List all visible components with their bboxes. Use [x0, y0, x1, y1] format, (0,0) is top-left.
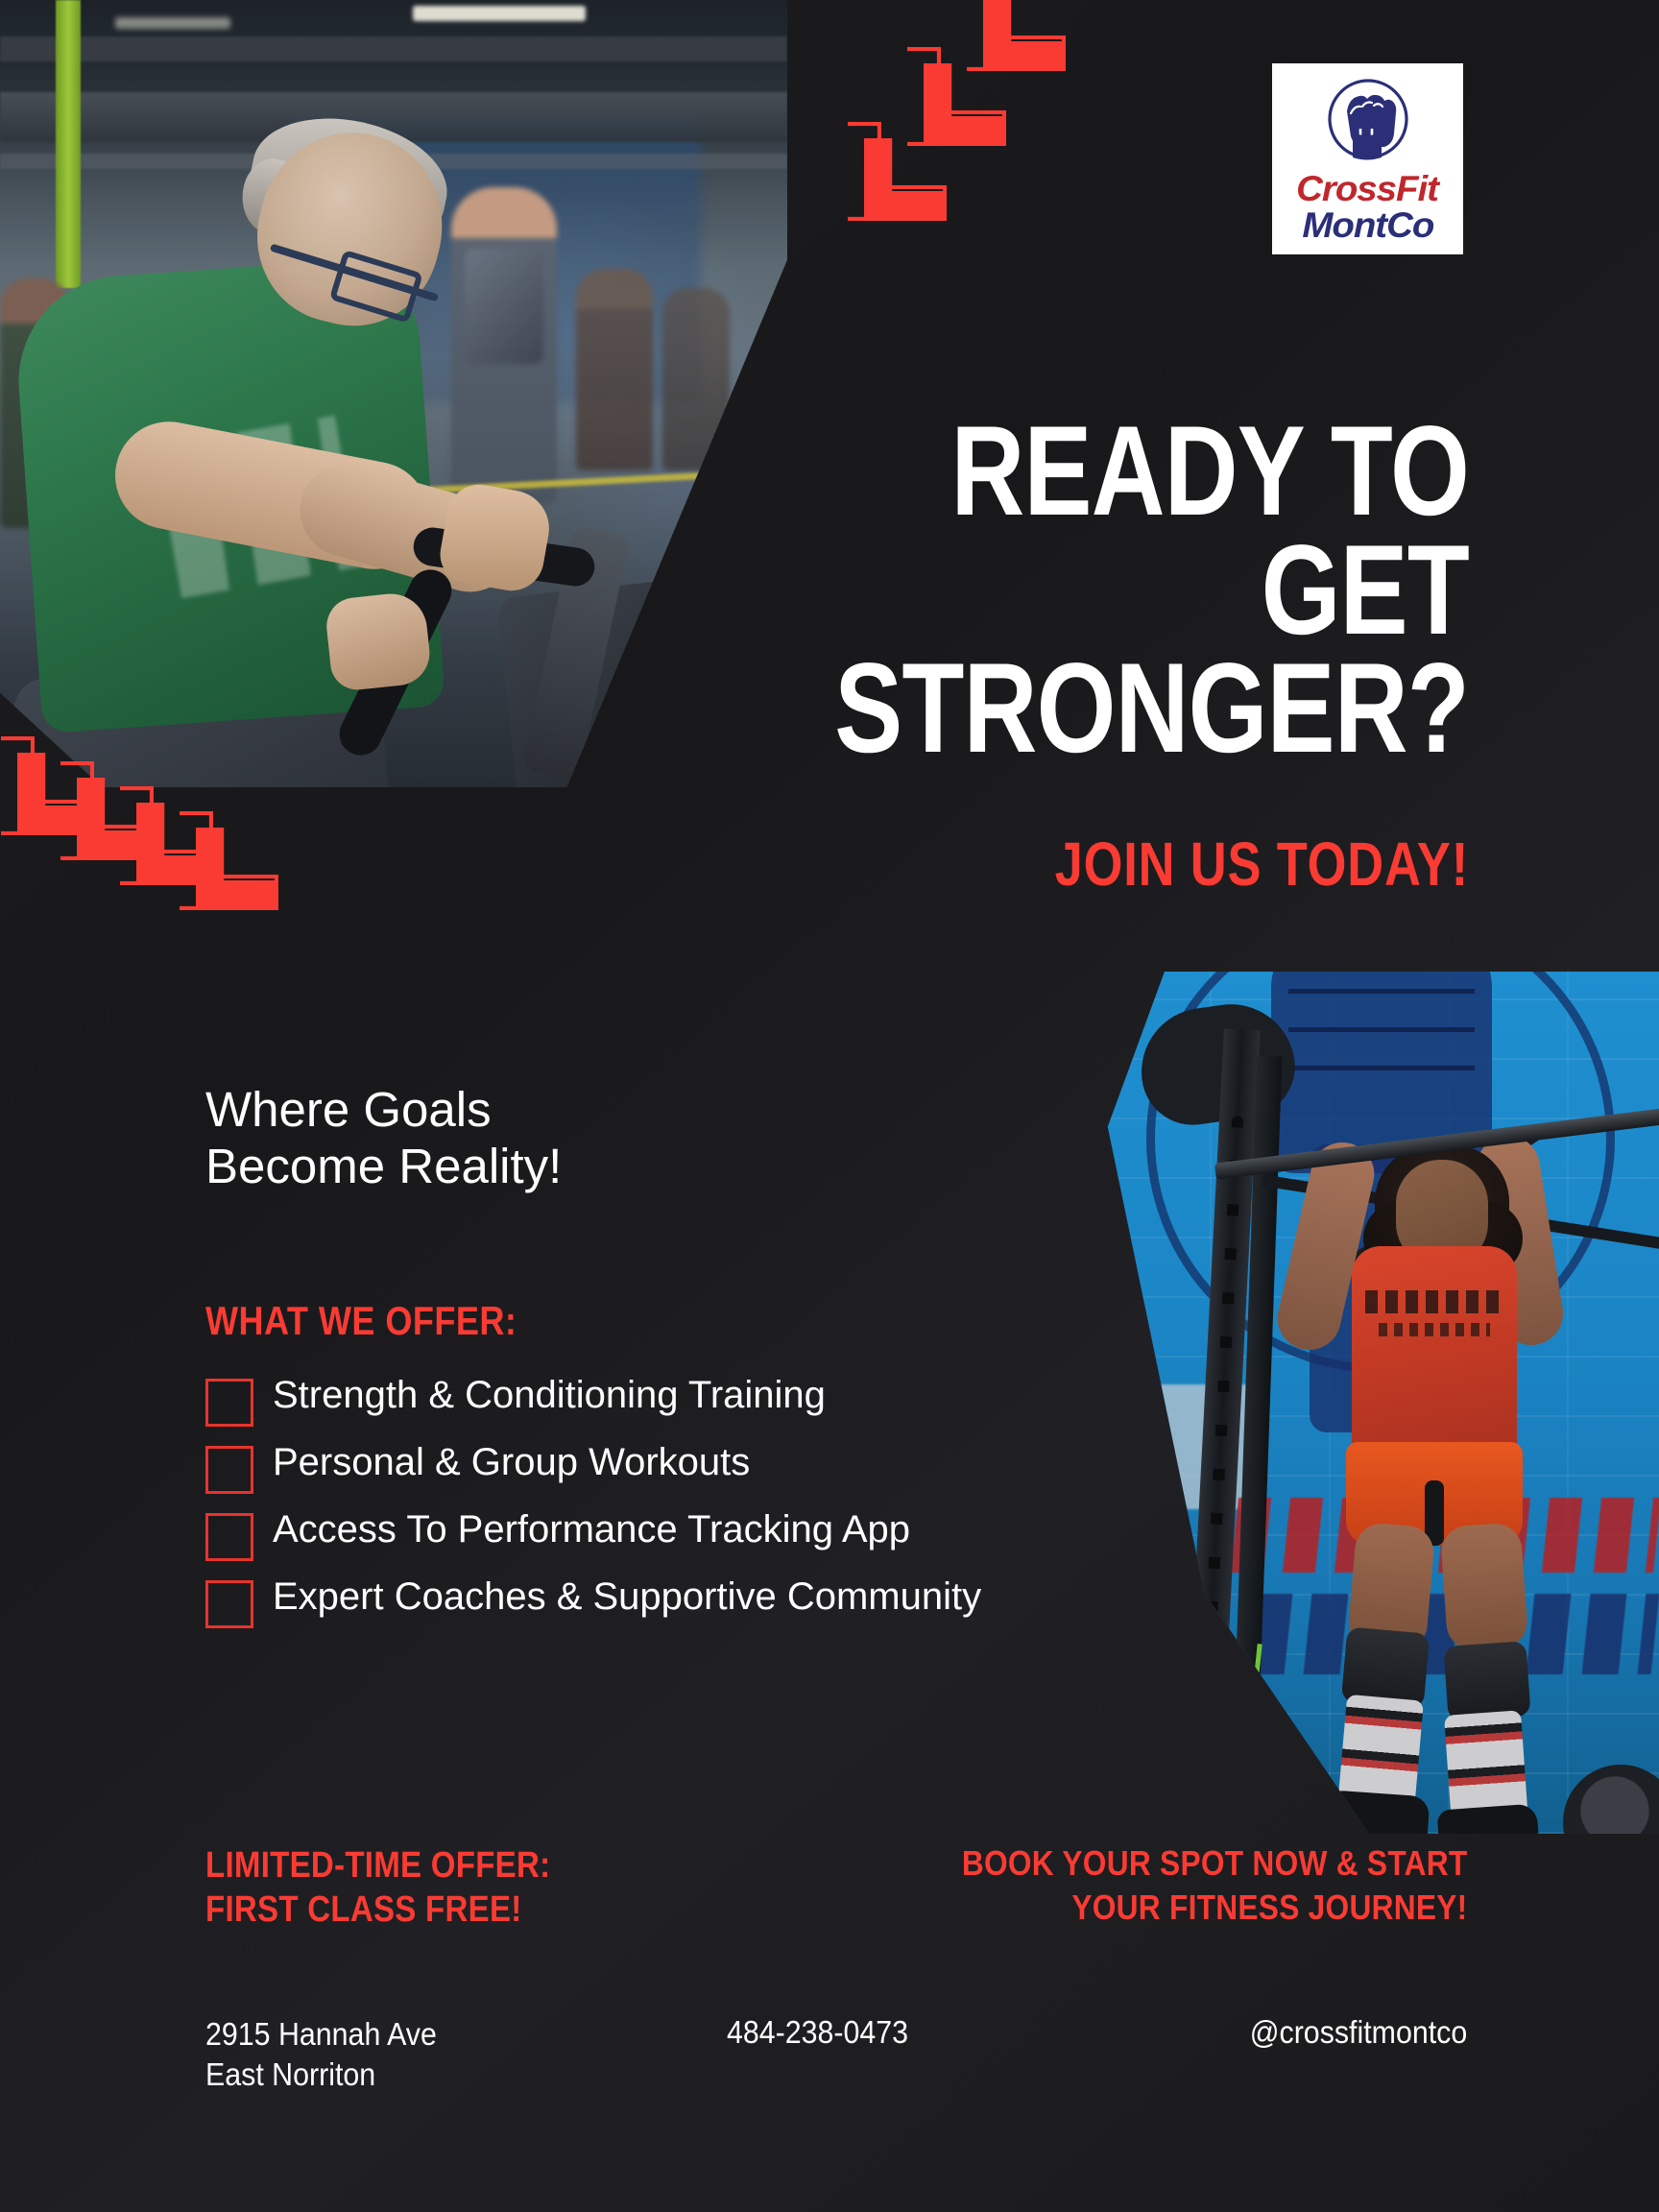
lifter-right-thigh	[1440, 1522, 1529, 1652]
tagline: Where Goals Become Reality!	[205, 1081, 878, 1194]
chevron-shape	[864, 138, 947, 221]
offer-item[interactable]: Strength & Conditioning Training	[205, 1375, 1070, 1427]
logo-wordmark-montco: MontCo	[1302, 207, 1433, 243]
ceiling-beam	[0, 36, 787, 61]
offer-item-label: Expert Coaches & Supportive Community	[273, 1576, 981, 1618]
background-person	[662, 288, 730, 470]
offer-section-heading: WHAT WE OFFER:	[205, 1298, 517, 1344]
chevron-solid	[196, 828, 278, 910]
knee-sleeve-right	[1443, 1641, 1530, 1721]
checkbox-icon[interactable]	[205, 1580, 253, 1628]
footer-phone[interactable]: 484-238-0473	[727, 2014, 908, 2051]
lifter-shoe-left	[1327, 1790, 1430, 1834]
checkbox-icon[interactable]	[205, 1513, 253, 1561]
chevron-shape	[924, 63, 1006, 146]
offer-item[interactable]: Expert Coaches & Supportive Community	[205, 1576, 1070, 1628]
checkbox-icon[interactable]	[205, 1379, 253, 1427]
photo-topleft-scene	[0, 0, 787, 787]
fist-icon	[1318, 75, 1418, 171]
crossfit-montco-logo: CrossFit MontCo	[1272, 63, 1463, 254]
flyer-canvas: CrossFit MontCo READY TO GET STRONGER? J…	[0, 0, 1659, 2212]
tank-graphic-line-1	[1365, 1290, 1503, 1313]
photo-athlete-assault-bike	[0, 0, 787, 787]
chevron-solid	[864, 138, 947, 221]
offer-item[interactable]: Personal & Group Workouts	[205, 1442, 1070, 1494]
tank-graphic-line-2	[1379, 1323, 1490, 1336]
background-person	[576, 269, 653, 470]
athlete-hand	[324, 590, 432, 692]
offer-item-label: Personal & Group Workouts	[273, 1442, 750, 1483]
footer-address: 2915 Hannah Ave East Norriton	[205, 2014, 437, 2095]
offer-item[interactable]: Access To Performance Tracking App	[205, 1509, 1070, 1561]
offer-list: Strength & Conditioning Training Persona…	[205, 1375, 1070, 1644]
ceiling-light	[413, 6, 586, 21]
logo-wordmark-crossfit: CrossFit	[1297, 171, 1439, 206]
chevron-shape	[983, 0, 1066, 71]
page-subheadline: JOIN US TODAY!	[815, 833, 1469, 895]
limited-time-offer-text: LIMITED-TIME OFFER: FIRST CLASS FREE!	[205, 1843, 550, 1933]
page-headline: READY TO GET STRONGER?	[831, 413, 1469, 769]
chevron-shape	[196, 828, 278, 910]
athlete-figure	[10, 125, 547, 787]
lifter-red-tank-top	[1352, 1246, 1517, 1457]
book-your-spot-text: BOOK YOUR SPOT NOW & START YOUR FITNESS …	[961, 1841, 1467, 1930]
ceiling-light	[115, 17, 230, 29]
footer-social-handle[interactable]: @crossfitmontco	[1249, 2014, 1467, 2051]
photo-athlete-overhead-press	[1091, 972, 1659, 1834]
chevron-solid	[924, 63, 1006, 146]
checkbox-icon[interactable]	[205, 1446, 253, 1494]
offer-item-label: Strength & Conditioning Training	[273, 1375, 826, 1416]
footer: 2915 Hannah Ave East Norriton 484-238-04…	[0, 2014, 1659, 2129]
offer-item-label: Access To Performance Tracking App	[273, 1509, 910, 1551]
